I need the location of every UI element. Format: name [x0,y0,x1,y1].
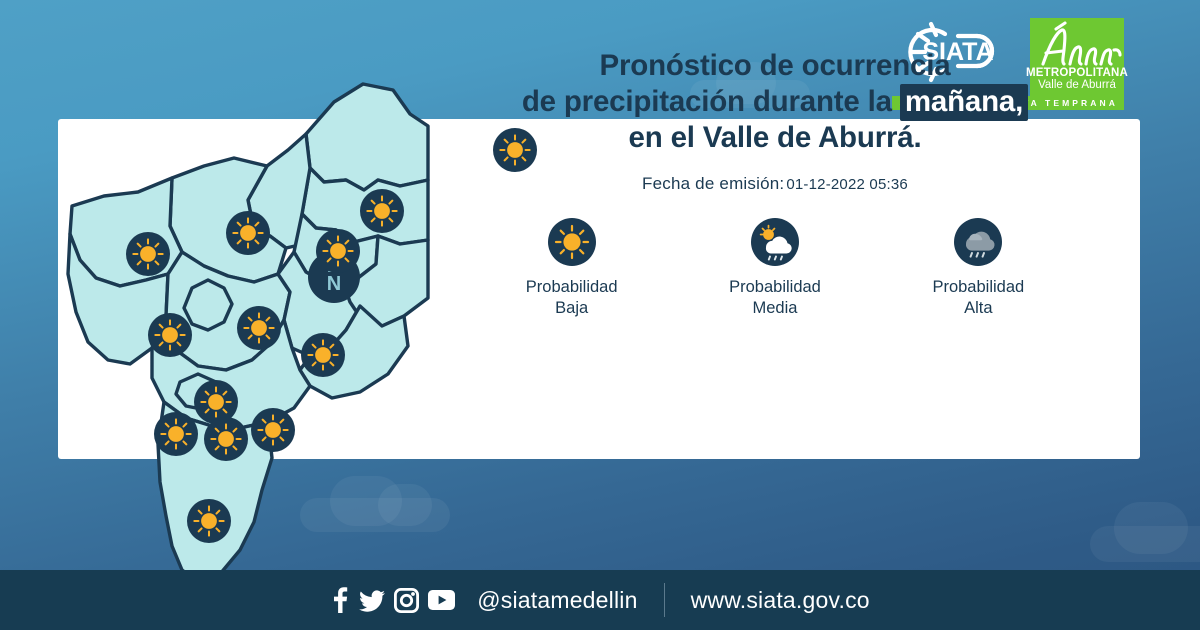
sun-icon [126,232,170,276]
legend-label-media: Probabilidad Media [729,277,821,319]
map-marker-sabaneta [251,408,295,452]
legend-baja-line2: Baja [526,298,618,319]
sun-icon [360,189,404,233]
sun-icon [251,408,295,452]
headline-block: Pronóstico de ocurrencia de precipitació… [470,48,1080,194]
map-marker-girardota [360,189,404,233]
sun-icon [154,412,198,456]
sun-icon [301,333,345,377]
legend-media-line1: Probabilidad [729,277,821,298]
emission-label: Fecha de emisión: [642,174,784,193]
sun-icon [226,211,270,255]
sun-icon [548,218,596,266]
website-url[interactable]: www.siata.gov.co [691,587,870,614]
map-marker-caldas-norte [154,412,198,456]
sun-cloud-rain-icon [751,218,799,266]
map-marker-medellin [148,313,192,357]
page-title: Pronóstico de ocurrencia de precipitació… [470,48,1080,156]
sun-icon [204,417,248,461]
legend-alta-line2: Alta [932,298,1024,319]
map-marker-caldas [187,499,231,543]
legend-item-media: Probabilidad Media [673,218,876,319]
legend-item-alta: Probabilidad Alta [877,218,1080,319]
emission-value: 01-12-2022 05:36 [786,176,908,193]
legend-item-baja: Probabilidad Baja [470,218,673,319]
sun-icon [237,306,281,350]
rain-cloud-icon [954,218,1002,266]
legend-media-line2: Media [729,298,821,319]
legend-alta-line1: Probabilidad [932,277,1024,298]
title-highlight: mañana, [900,84,1028,121]
facebook-icon[interactable] [330,587,350,613]
map-marker-copacabana [316,229,360,273]
sun-icon [316,229,360,273]
footer-divider [664,583,665,617]
poster-canvas: SIATA METROPOLITANA Valle de Aburrá SIST… [0,0,1200,630]
map-marker-san-pedro [226,211,270,255]
title-line-1: Pronóstico de ocurrencia [470,48,1080,84]
map-marker-la-estrella [204,417,248,461]
probability-legend: Probabilidad Baja [470,218,1080,319]
sun-icon [187,499,231,543]
social-handle[interactable]: @siatamedellin [477,587,637,614]
emission-date: Fecha de emisión:01-12-2022 05:36 [470,174,1080,194]
legend-baja-line1: Probabilidad [526,277,618,298]
legend-label-alta: Probabilidad Alta [932,277,1024,319]
map-marker-bello [126,232,170,276]
valle-de-aburra-map: N [48,30,428,590]
map-marker-medellin-norte [237,306,281,350]
map-marker-envigado [301,333,345,377]
youtube-icon[interactable] [428,590,455,610]
instagram-icon[interactable] [394,588,419,613]
footer-bar: @siatamedellin www.siata.gov.co [0,570,1200,630]
sun-icon [148,313,192,357]
social-links [330,587,455,613]
compass-label: N [327,273,341,295]
title-line-3: en el Valle de Aburrá. [470,120,1080,156]
twitter-icon[interactable] [359,587,385,613]
title-line-2-pre: de precipitación durante la [522,85,900,118]
title-line-2: de precipitación durante la mañana, [470,84,1080,120]
legend-label-baja: Probabilidad Baja [526,277,618,319]
